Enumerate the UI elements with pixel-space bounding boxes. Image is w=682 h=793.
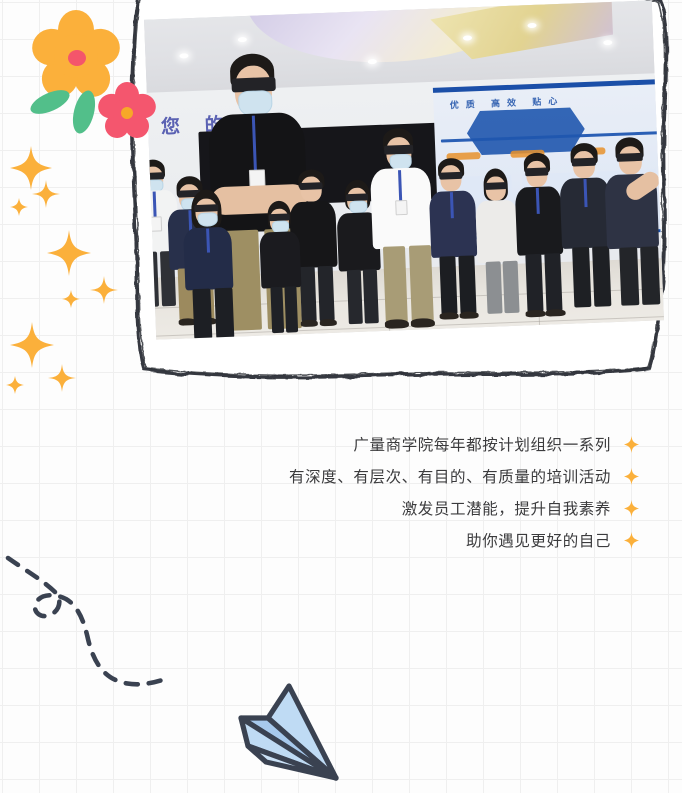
- pink-flower-icon: [94, 78, 168, 152]
- dashed-flight-path: [0, 545, 260, 735]
- text-line-label: 激发员工潜能，提升自我素养: [402, 497, 611, 519]
- text-line-label: 助你遇见更好的自己: [466, 529, 611, 551]
- sparkle-cluster-bottom: [0, 300, 90, 400]
- sparkle-icon: [623, 467, 640, 486]
- poster-canvas: 您 的 我 的 梦 想 优质 高效 贴心: [0, 0, 682, 793]
- text-line-label: 广量商学院每年都按计划组织一系列: [353, 433, 611, 455]
- description-text-block: 广量商学院每年都按计划组织一系列 有深度、有层次、有目的、有质量的培训活动 激发…: [330, 428, 640, 556]
- text-line-label: 有深度、有层次、有目的、有质量的培训活动: [289, 465, 611, 487]
- paper-plane-icon: [236, 678, 348, 790]
- text-line: 激发员工潜能，提升自我素养: [330, 492, 640, 524]
- sparkle-cluster-top: [2, 138, 82, 228]
- sparkle-icon: [623, 531, 640, 550]
- text-line: 助你遇见更好的自己: [330, 524, 640, 556]
- photo-frame: 您 的 我 的 梦 想 优质 高效 贴心: [104, 0, 680, 384]
- text-line: 有深度、有层次、有目的、有质量的培训活动: [330, 460, 640, 492]
- photo-image: 您 的 我 的 梦 想 优质 高效 贴心: [144, 0, 664, 339]
- sparkle-icon: [623, 435, 640, 454]
- text-line: 广量商学院每年都按计划组织一系列: [330, 428, 640, 460]
- sparkle-icon: [623, 499, 640, 518]
